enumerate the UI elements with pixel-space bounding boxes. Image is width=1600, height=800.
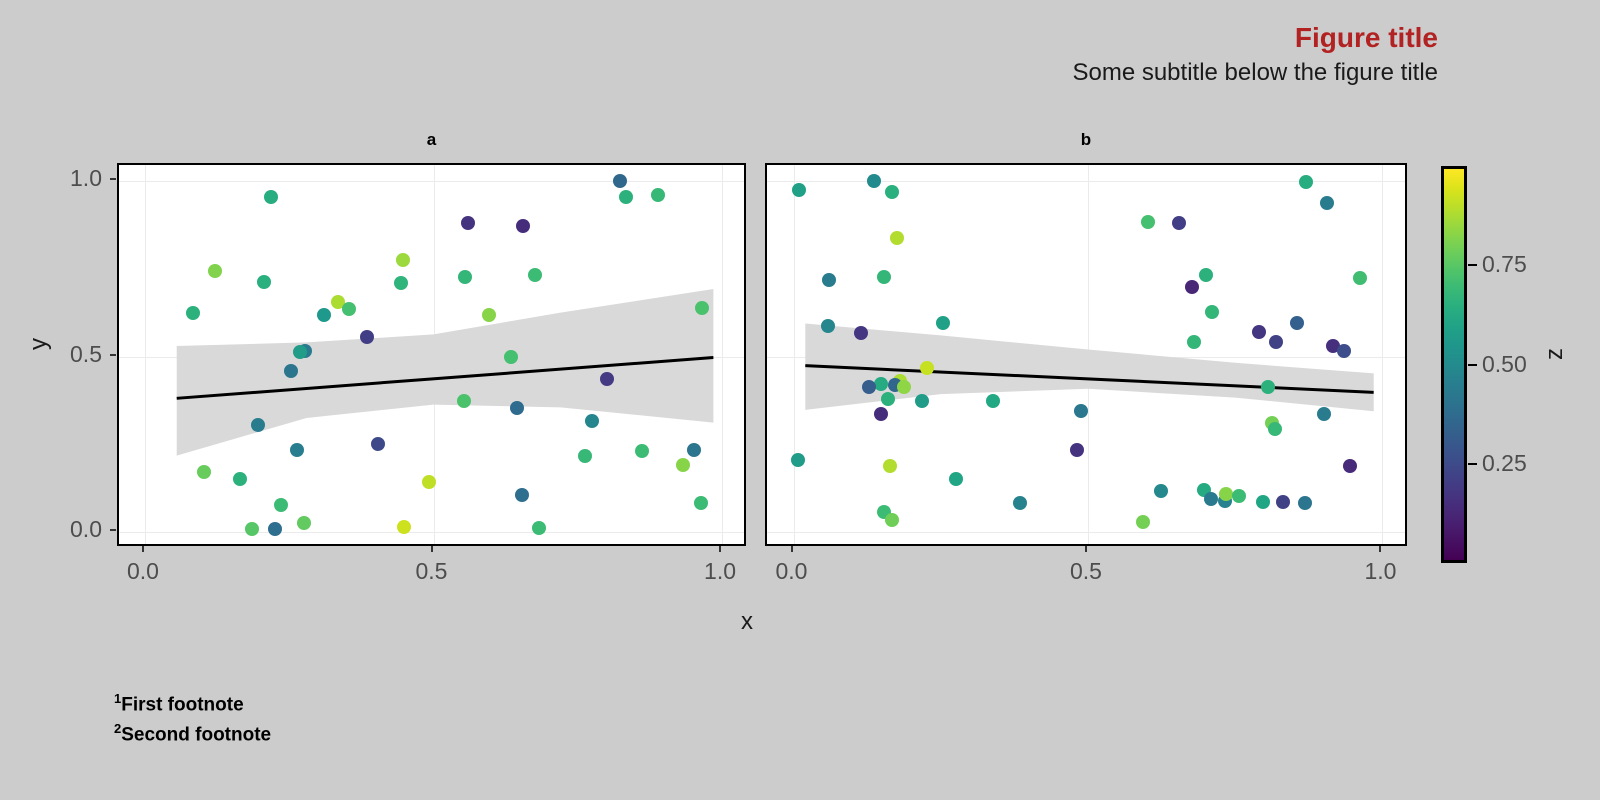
facet-strip-label-b: b: [765, 129, 1407, 151]
x-axis-tickmark: [1379, 546, 1381, 552]
y-axis-title: y: [25, 304, 53, 384]
scatter-point: [822, 273, 836, 287]
scatter-point: [792, 183, 806, 197]
colorbar-tick-label: 0.25: [1482, 450, 1527, 477]
scatter-point: [317, 308, 331, 322]
scatter-point: [532, 521, 546, 535]
scatter-point: [457, 394, 471, 408]
figure-subtitle: Some subtitle below the figure title: [1072, 59, 1438, 87]
footnote-text-1: First footnote: [121, 694, 243, 715]
scatter-point: [482, 308, 496, 322]
scatter-point: [791, 453, 805, 467]
y-axis-tickmark: [110, 178, 116, 180]
scatter-point: [1252, 325, 1266, 339]
scatter-point: [578, 449, 592, 463]
scatter-point: [1204, 492, 1218, 506]
colorbar-title: z: [1541, 324, 1569, 384]
x-axis-tick-label: 1.0: [680, 558, 760, 585]
y-axis-tickmark: [110, 529, 116, 531]
scatter-point: [1261, 380, 1275, 394]
scatter-point: [293, 345, 307, 359]
x-axis-tickmark: [142, 546, 144, 552]
scatter-point: [619, 190, 633, 204]
plot-panel-a: [117, 163, 746, 546]
colorbar-tickmark: [1468, 364, 1477, 366]
x-axis-tickmark: [1085, 546, 1087, 552]
scatter-point: [1205, 305, 1219, 319]
scatter-point: [1199, 268, 1213, 282]
regression-overlay: [767, 165, 1407, 546]
scatter-point: [867, 174, 881, 188]
colorbar-tick-label: 0.50: [1482, 351, 1527, 378]
scatter-point: [1185, 280, 1199, 294]
scatter-point: [284, 364, 298, 378]
scatter-point: [1337, 344, 1351, 358]
scatter-point: [1074, 404, 1088, 418]
x-axis-tickmark: [791, 546, 793, 552]
scatter-point: [1276, 495, 1290, 509]
scatter-point: [1141, 215, 1155, 229]
figure-title: Figure title: [1295, 22, 1438, 54]
scatter-point: [360, 330, 374, 344]
scatter-point: [371, 437, 385, 451]
regression-overlay: [119, 165, 746, 546]
scatter-point: [854, 326, 868, 340]
scatter-point: [510, 401, 524, 415]
x-axis-tick-label: 1.0: [1340, 558, 1420, 585]
scatter-point: [504, 350, 518, 364]
x-axis-tickmark: [719, 546, 721, 552]
scatter-point: [936, 316, 950, 330]
scatter-point: [1187, 335, 1201, 349]
scatter-point: [396, 253, 410, 267]
scatter-point: [516, 219, 530, 233]
x-axis-title: x: [707, 608, 787, 636]
scatter-point: [821, 319, 835, 333]
x-axis-tick-label: 0.5: [392, 558, 472, 585]
x-axis-tick-label: 0.0: [103, 558, 183, 585]
scatter-point: [515, 488, 529, 502]
scatter-point: [687, 443, 701, 457]
colorbar-tickmark: [1468, 264, 1477, 266]
scatter-point: [290, 443, 304, 457]
scatter-point: [600, 372, 614, 386]
x-axis-tick-label: 0.0: [752, 558, 832, 585]
plot-panel-b: [765, 163, 1407, 546]
scatter-point: [695, 301, 709, 315]
scatter-point: [877, 270, 891, 284]
scatter-point: [676, 458, 690, 472]
scatter-point: [1290, 316, 1304, 330]
colorbar-legend[interactable]: [1441, 166, 1467, 563]
scatter-point: [257, 275, 271, 289]
scatter-point: [920, 361, 934, 375]
scatter-point: [613, 174, 627, 188]
y-axis-tick-label: 0.0: [22, 516, 102, 543]
scatter-point: [897, 380, 911, 394]
scatter-point: [1256, 495, 1270, 509]
scatter-point: [883, 459, 897, 473]
scatter-point: [1013, 496, 1027, 510]
scatter-point: [585, 414, 599, 428]
scatter-point: [1353, 271, 1367, 285]
scatter-point: [461, 216, 475, 230]
x-axis-tickmark: [431, 546, 433, 552]
y-axis-tickmark: [110, 354, 116, 356]
x-axis-tick-label: 0.5: [1046, 558, 1126, 585]
footnote-text-2: Second footnote: [121, 724, 271, 745]
figure-container: Figure title Some subtitle below the fig…: [0, 0, 1600, 800]
footnote-second: 2Second footnote: [114, 721, 271, 746]
y-axis-tick-label: 1.0: [22, 165, 102, 192]
footnote-first: 1First footnote: [114, 691, 244, 716]
colorbar-tickmark: [1468, 463, 1477, 465]
scatter-point: [264, 190, 278, 204]
scatter-point: [890, 231, 904, 245]
scatter-point: [251, 418, 265, 432]
colorbar-tick-label: 0.75: [1482, 251, 1527, 278]
scatter-point: [651, 188, 665, 202]
facet-strip-label-a: a: [117, 129, 746, 151]
